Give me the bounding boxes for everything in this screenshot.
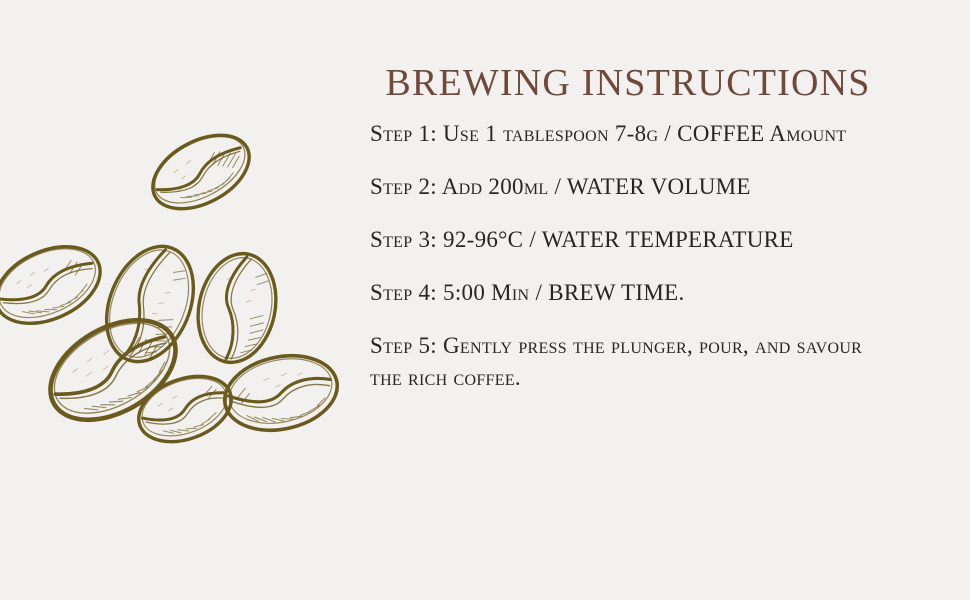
coffee-bean-bottom-center <box>130 364 241 453</box>
coffee-bean-bottom-right <box>218 346 344 440</box>
step-item-4: Step 4: 5:00 Min / BREW TIME. <box>370 277 886 309</box>
page-title: BREWING INSTRUCTIONS <box>358 61 898 105</box>
coffee-bean-right-middle <box>188 246 285 369</box>
step-item-5: Step 5: Gently press the plunger, pour, … <box>370 330 886 394</box>
step-item-2: Step 2: Add 200ml / WATER VOLUME <box>370 171 886 203</box>
coffee-beans-illustration <box>0 112 360 482</box>
instructions-content: BREWING INSTRUCTIONS Step 1: Use 1 table… <box>358 0 898 600</box>
coffee-bean-top <box>141 120 262 224</box>
step-item-3: Step 3: 92-96°C / WATER TEMPERATURE <box>370 224 886 256</box>
step-item-1: Step 1: Use 1 tablespoon 7-8g / COFFEE A… <box>370 118 886 150</box>
coffee-beans-svg <box>0 112 360 482</box>
steps-list: Step 1: Use 1 tablespoon 7-8g / COFFEE A… <box>370 118 898 394</box>
brewing-instructions-card: BREWING INSTRUCTIONS Step 1: Use 1 table… <box>0 0 970 600</box>
coffee-bean-left <box>0 232 112 339</box>
coffee-bean-center-upper <box>90 233 209 374</box>
